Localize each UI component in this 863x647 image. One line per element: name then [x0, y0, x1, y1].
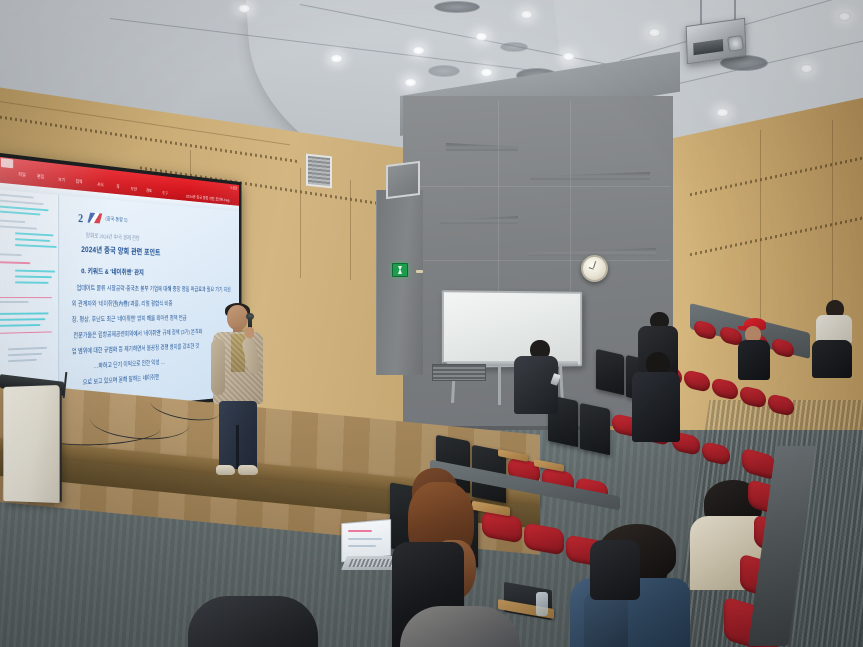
ribbon-tab-8[interactable]: 도구	[162, 191, 168, 197]
audience-member	[400, 606, 520, 647]
comment-line	[8, 353, 42, 356]
audience-torso	[514, 356, 558, 414]
audience-torso	[738, 340, 770, 380]
wood-panel-seam	[832, 120, 833, 320]
ribbon-tab-1[interactable]: 편집	[37, 174, 44, 181]
comment-line	[0, 194, 34, 199]
highlighted-line	[0, 312, 49, 314]
wall-clock-icon	[581, 255, 608, 282]
ribbon-tab-2[interactable]: 보기	[58, 177, 65, 183]
highlighted-line	[0, 318, 45, 321]
slide-header-note: (중국·동향 1)	[105, 215, 127, 224]
slide-body-line: 외 관계자와 '네이쥐앤(內卷)'과를, 리얼 결합식 비중	[72, 298, 173, 307]
audience-torso	[188, 596, 318, 647]
whiteboard-leg	[498, 365, 501, 405]
presenter-left-arm	[211, 339, 225, 395]
projector-mount-rod	[700, 0, 702, 24]
highlighted-line	[15, 275, 52, 278]
slide-subtitle: 0. 키워드 & '네이쥐앤' 관지	[81, 266, 144, 278]
exit-sign-icon	[392, 263, 408, 277]
audience-member	[188, 596, 318, 647]
door-window	[386, 161, 420, 199]
audience-head-cap	[400, 606, 520, 647]
slide-body-line: 업 범위에 대한 규범화 등 제기하면서 불공정 경쟁 방지를 강조한 것	[72, 341, 199, 355]
ceiling-speaker	[428, 65, 460, 77]
projector-lens-icon	[727, 35, 744, 52]
wood-panel-seam	[300, 168, 301, 278]
highlighted-line	[15, 244, 57, 248]
laptop-screen-content	[348, 530, 372, 532]
downlight	[838, 12, 851, 21]
audience-member	[626, 352, 686, 448]
water-bottle	[536, 592, 548, 616]
slide-number: 2	[78, 211, 83, 226]
ribbon-tab-5[interactable]: 쪽	[116, 184, 119, 190]
annotation-rule	[0, 331, 52, 333]
flag-icon	[88, 213, 103, 224]
presenter	[205, 305, 271, 485]
wood-panel-seam	[350, 180, 351, 280]
annotation-rule	[0, 297, 52, 298]
ribbon-tab-chip[interactable]	[1, 158, 13, 168]
panel-seam	[420, 186, 670, 187]
slide-body-line: 장, 평상, 후난도 최근 '네이쥐앤' 방지 해를 외마련 정책 언급	[72, 313, 187, 324]
audience-member	[736, 318, 780, 380]
comment-line	[8, 359, 37, 362]
backpack	[590, 540, 640, 600]
comment-line	[0, 219, 25, 223]
side-door[interactable]	[376, 190, 423, 375]
audience-torso	[632, 372, 680, 442]
ceiling-speaker	[500, 42, 528, 52]
panel-seam	[498, 100, 499, 300]
seat-back[interactable]	[596, 349, 624, 395]
lectern	[3, 385, 59, 503]
audience-torso	[816, 315, 852, 343]
comment-line	[8, 347, 47, 351]
downlight	[716, 108, 729, 117]
slide-title: 2024년 중국 양회 관련 포인트	[81, 243, 160, 257]
laptop-screen-content	[348, 545, 376, 547]
presenter-leg-gap	[236, 425, 239, 469]
downlight	[520, 10, 533, 19]
highlighted-line	[15, 281, 49, 283]
presenter-shoe-left	[216, 465, 235, 475]
slide-body-line: 전문가들은 립항공제공련회의에서 '네이쥐앤' 규제 정책 (3가) 본격화	[73, 327, 202, 340]
wall-vent-grille	[306, 154, 332, 189]
highlighted-line	[15, 232, 54, 236]
floor-vent-grille	[432, 364, 486, 381]
ribbon-help-label[interactable]: 도움말	[230, 186, 237, 192]
ribbon-tab-3[interactable]: 입력	[76, 179, 83, 185]
downlight	[562, 52, 575, 61]
seat-back[interactable]	[580, 403, 610, 455]
ribbon-tab-6[interactable]: 보안	[131, 187, 137, 193]
highlighted-line	[15, 238, 50, 242]
presenter-shoe-right	[238, 465, 258, 475]
ribbon-tab-7[interactable]: 검토	[146, 188, 152, 194]
panel-seam	[420, 260, 670, 261]
comment-line	[0, 200, 44, 206]
panel-seam	[570, 100, 571, 300]
downlight	[238, 4, 251, 13]
downlight	[475, 32, 488, 41]
downlight	[330, 54, 343, 63]
comment-line	[0, 225, 37, 229]
slide-body-line: 업데이트 물류 시장공략·중국초 불부 기업에 대해 중장 정밀 파급효과 필요…	[77, 282, 231, 293]
annotation-line	[0, 261, 30, 264]
downlight	[648, 28, 661, 37]
slide-body-line: …화하고 단기 이익으로 인한 악성 …	[93, 357, 165, 370]
handwriting-note: 양회로 2024년 中국 경제 전망	[86, 231, 140, 242]
audience-lower	[812, 340, 852, 378]
highlighted-line	[15, 270, 55, 273]
comment-line	[0, 301, 29, 303]
highlighted-line	[0, 211, 40, 216]
laptop-screen-content	[348, 538, 382, 540]
downlight	[404, 78, 417, 87]
audience-member	[514, 340, 566, 418]
slide-body-line: 으로 보고 있으며 올해 말하는 네이쥐앤	[83, 372, 159, 386]
comment-line	[0, 253, 22, 256]
downlight	[412, 46, 425, 55]
ribbon-tab-0[interactable]: 파일	[18, 172, 26, 179]
presenter-hand	[245, 327, 254, 338]
downlight	[800, 64, 813, 73]
door-handle[interactable]	[416, 270, 423, 273]
audience-member	[808, 300, 856, 380]
highlighted-line	[0, 324, 40, 327]
ceiling-speaker	[434, 1, 480, 13]
downlight	[480, 68, 493, 77]
lecture-hall-photo: 파일 편집 보기 입력 서식 쪽 보안 검토 도구 2024년 중국 양회 관련…	[0, 0, 863, 647]
wood-panel-seam	[760, 130, 761, 330]
ribbon-tab-4[interactable]: 서식	[97, 182, 104, 188]
